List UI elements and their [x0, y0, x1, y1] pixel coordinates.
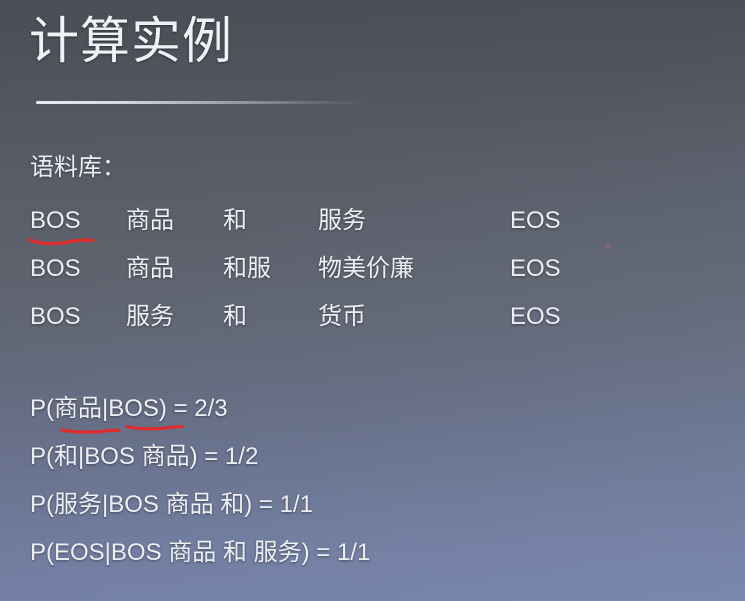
- probability-line: P(商品|BOS) = 2/3: [30, 394, 228, 424]
- corpus-cell: 服务: [126, 302, 174, 332]
- corpus-cell: EOS: [510, 254, 561, 284]
- corpus-cell: 和: [223, 206, 247, 236]
- corpus-cell: 货币: [318, 302, 366, 332]
- slide-canvas: 计算实例 语料库： BOS 商品 和 服务 EOS BOS 商品 和服 物美价廉…: [0, 0, 745, 601]
- probability-line: P(服务|BOS 商品 和) = 1/1: [30, 490, 313, 520]
- corpus-cell: 物美价廉: [318, 254, 414, 284]
- corpus-cell: 和: [223, 302, 247, 332]
- probability-line: P(EOS|BOS 商品 和 服务) = 1/1: [30, 538, 370, 568]
- red-marker-dot-icon: [606, 245, 610, 249]
- corpus-label: 语料库：: [30, 153, 126, 183]
- red-underline-term-icon: [60, 423, 122, 435]
- probability-line: P(和|BOS 商品) = 1/2: [30, 442, 258, 472]
- corpus-cell: BOS: [30, 254, 81, 284]
- corpus-cell: 和服: [223, 254, 271, 284]
- corpus-cell: 商品: [126, 206, 174, 236]
- corpus-cell: BOS: [30, 302, 81, 332]
- corpus-cell: 服务: [318, 206, 366, 236]
- page-title: 计算实例: [29, 8, 233, 74]
- corpus-cell: 商品: [126, 254, 174, 284]
- corpus-cell: EOS: [510, 302, 561, 332]
- corpus-cell: EOS: [510, 206, 561, 236]
- corpus-cell: BOS: [30, 206, 81, 236]
- title-divider: [36, 101, 366, 104]
